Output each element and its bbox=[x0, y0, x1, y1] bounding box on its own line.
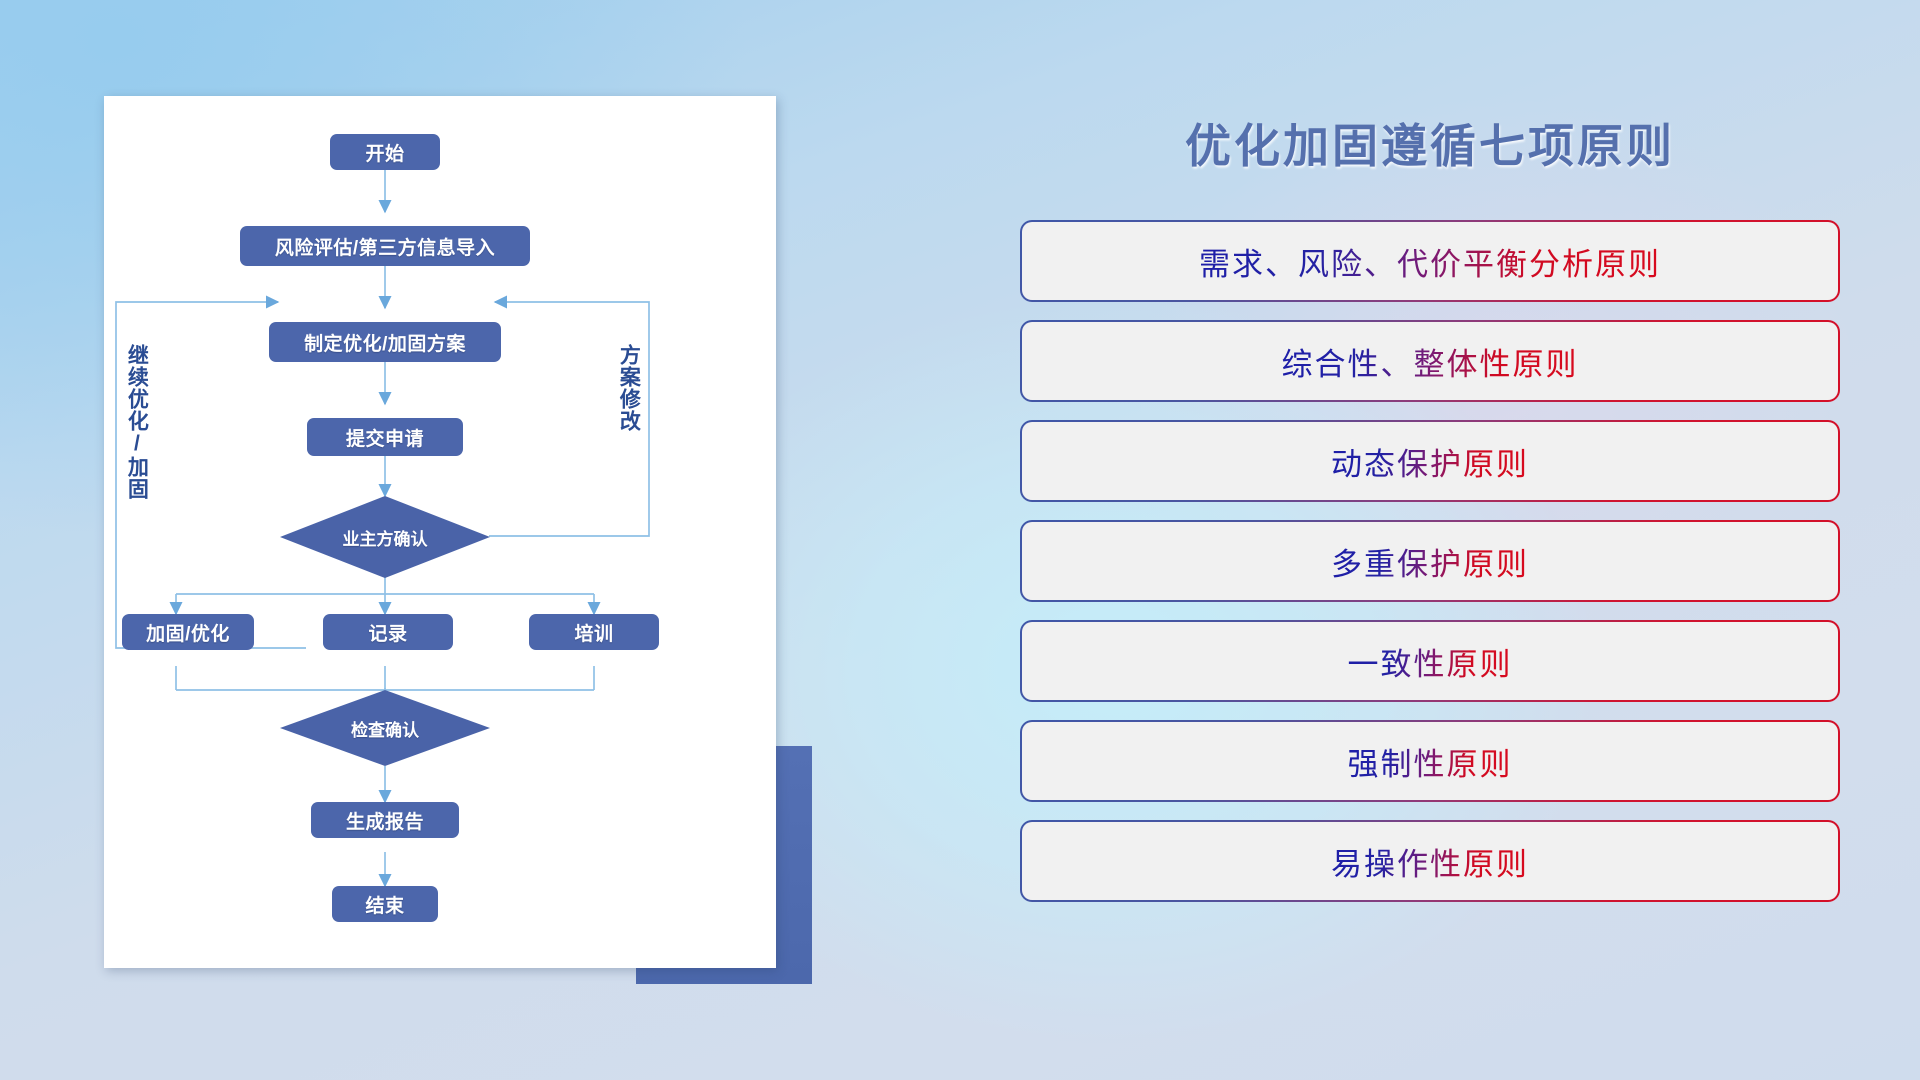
flow-node-label: 风险评估/第三方信息导入 bbox=[275, 233, 495, 260]
principle-label: 强制性原则 bbox=[1348, 739, 1513, 784]
principle-item[interactable]: 多重保护原则 bbox=[1020, 520, 1840, 602]
flow-node-training: 培训 bbox=[529, 614, 659, 650]
principle-item-inner: 综合性、整体性原则 bbox=[1022, 322, 1838, 400]
principle-item-inner: 多重保护原则 bbox=[1022, 522, 1838, 600]
principle-item-inner: 易操作性原则 bbox=[1022, 822, 1838, 900]
flow-node-label: 加固/优化 bbox=[146, 619, 230, 646]
flow-edge-label-plan-revision: 方案修改 bbox=[618, 344, 639, 432]
principle-item-inner: 动态保护原则 bbox=[1022, 422, 1838, 500]
flow-node-generate-report: 生成报告 bbox=[311, 802, 459, 838]
principle-label: 多重保护原则 bbox=[1331, 539, 1529, 584]
principle-item[interactable]: 强制性原则 bbox=[1020, 720, 1840, 802]
flow-node-record: 记录 bbox=[323, 614, 453, 650]
principle-item[interactable]: 综合性、整体性原则 bbox=[1020, 320, 1840, 402]
flow-node-submit-application: 提交申请 bbox=[307, 418, 463, 456]
principle-item-inner: 需求、风险、代价平衡分析原则 bbox=[1022, 222, 1838, 300]
flow-node-label: 业主方确认 bbox=[343, 525, 428, 550]
flowchart-card: 开始 风险评估/第三方信息导入 制定优化/加固方案 提交申请 业主方确认 加固/… bbox=[104, 96, 776, 968]
flow-edge-label-continue-optimize: 继续优化/加固 bbox=[126, 344, 147, 500]
principle-item[interactable]: 一致性原则 bbox=[1020, 620, 1840, 702]
flow-node-label: 培训 bbox=[574, 619, 613, 646]
flow-node-label: 提交申请 bbox=[346, 424, 424, 451]
principle-item[interactable]: 动态保护原则 bbox=[1020, 420, 1840, 502]
principle-label: 一致性原则 bbox=[1348, 639, 1513, 684]
flow-node-label: 检查确认 bbox=[351, 716, 419, 741]
flow-node-label: 制定优化/加固方案 bbox=[304, 329, 466, 356]
flow-node-end: 结束 bbox=[332, 886, 438, 922]
principle-item[interactable]: 易操作性原则 bbox=[1020, 820, 1840, 902]
flow-node-risk-assessment: 风险评估/第三方信息导入 bbox=[240, 226, 530, 266]
flow-node-label: 生成报告 bbox=[346, 807, 424, 834]
principle-label: 易操作性原则 bbox=[1331, 839, 1529, 884]
flow-node-label: 结束 bbox=[365, 891, 404, 918]
page-title: 优化加固遵循七项原则 bbox=[1020, 110, 1840, 176]
flow-node-label: 记录 bbox=[368, 619, 407, 646]
flow-node-reinforce-optimize: 加固/优化 bbox=[122, 614, 254, 650]
principle-item[interactable]: 需求、风险、代价平衡分析原则 bbox=[1020, 220, 1840, 302]
flow-node-plan: 制定优化/加固方案 bbox=[269, 322, 501, 362]
principle-label: 需求、风险、代价平衡分析原则 bbox=[1199, 239, 1661, 284]
principles-list: 需求、风险、代价平衡分析原则 综合性、整体性原则 动态保护原则 多重保护原则 bbox=[1020, 220, 1840, 920]
principle-label: 综合性、整体性原则 bbox=[1282, 339, 1579, 384]
principles-panel: 优化加固遵循七项原则 需求、风险、代价平衡分析原则 综合性、整体性原则 动态保护… bbox=[1020, 96, 1840, 1016]
principle-label: 动态保护原则 bbox=[1331, 439, 1529, 484]
flow-node-label: 开始 bbox=[365, 139, 404, 166]
principle-item-inner: 强制性原则 bbox=[1022, 722, 1838, 800]
principle-item-inner: 一致性原则 bbox=[1022, 622, 1838, 700]
slide-root: 开始 风险评估/第三方信息导入 制定优化/加固方案 提交申请 业主方确认 加固/… bbox=[0, 0, 1920, 1080]
flow-node-start: 开始 bbox=[330, 134, 440, 170]
